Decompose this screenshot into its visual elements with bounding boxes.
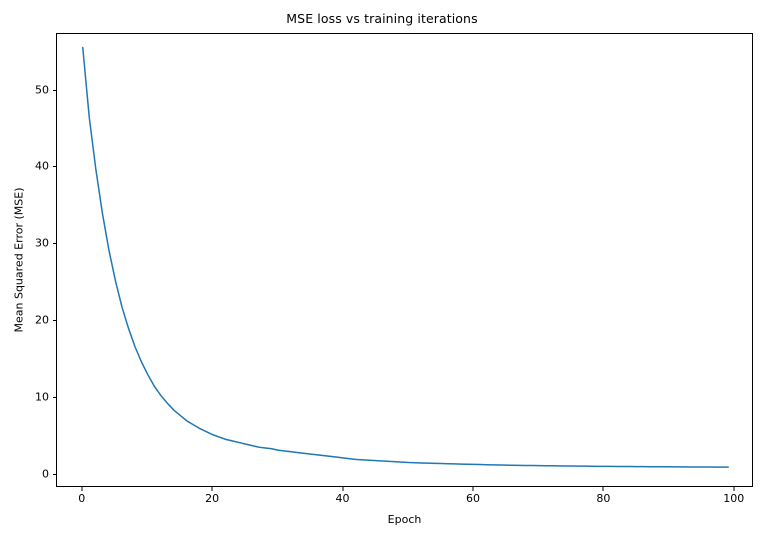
- line-chart-canvas: [57, 34, 754, 488]
- x-axis-tick-label: 0: [62, 492, 102, 505]
- x-axis-tick-label: 20: [192, 492, 232, 505]
- data-series-mse-loss: [83, 48, 729, 468]
- y-axis-tick-label: 20: [0, 314, 49, 327]
- y-axis-tick-label: 40: [0, 160, 49, 173]
- x-axis-tick-label: 60: [453, 492, 493, 505]
- y-axis-tick-label: 30: [0, 237, 49, 250]
- y-axis-tick-label: 0: [0, 467, 49, 480]
- x-axis-tick-label: 40: [323, 492, 363, 505]
- plot-area: [56, 33, 753, 487]
- y-axis-tick-label: 10: [0, 390, 49, 403]
- y-axis-label: Mean Squared Error (MSE): [11, 33, 27, 487]
- x-axis-label: Epoch: [56, 513, 753, 526]
- x-axis-tick-label: 80: [583, 492, 623, 505]
- y-axis-label-text: Mean Squared Error (MSE): [13, 188, 26, 333]
- y-axis-tick-label: 50: [0, 83, 49, 96]
- x-axis-tick-label: 100: [714, 492, 754, 505]
- matplotlib-figure: MSE loss vs training iterations Mean Squ…: [0, 0, 764, 547]
- page-title: MSE loss vs training iterations: [0, 11, 764, 26]
